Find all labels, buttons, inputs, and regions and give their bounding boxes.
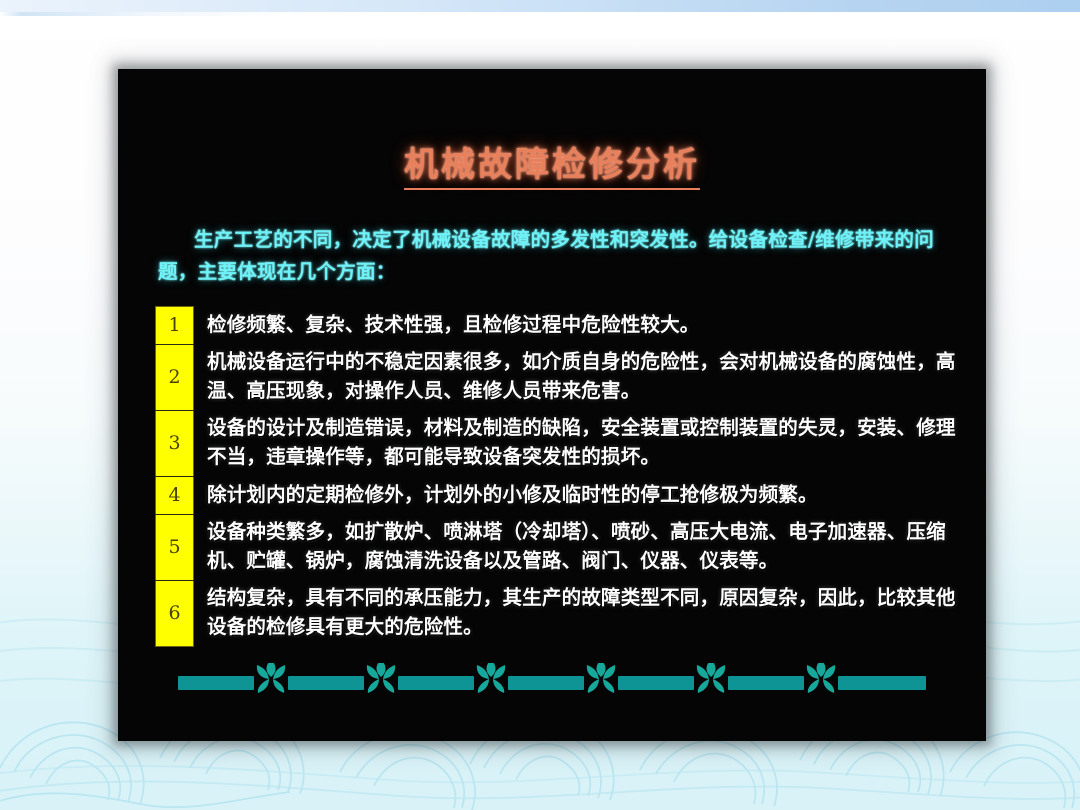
- item-number-badge: 4: [156, 476, 194, 514]
- slide-background: 机械故障检修分析 生产工艺的不同，决定了机械设备故障的多发性和突发性。给设备检查…: [0, 0, 1080, 810]
- item-number-badge: 1: [156, 306, 194, 344]
- item-text: 除计划内的定期检修外，计划外的小修及临时性的停工抢修极为频繁。: [194, 476, 960, 514]
- table-row: 3 设备的设计及制造错误，材料及制造的缺陷，安全装置或控制装置的失灵，安装、修理…: [156, 410, 960, 476]
- item-text: 结构复杂，具有不同的承压能力，其生产的故障类型不同，原因复杂，因此，比较其他设备…: [194, 580, 960, 646]
- item-text: 机械设备运行中的不稳定因素很多，如介质自身的危险性，会对机械设备的腐蚀性，高温、…: [194, 344, 960, 410]
- footer-ornament-divider: [178, 663, 926, 697]
- table-row: 5 设备种类繁多，如扩散炉、喷淋塔（冷却塔）、喷砂、高压大电流、电子加速器、压缩…: [156, 514, 960, 580]
- item-number-badge: 5: [156, 514, 194, 580]
- table-row: 6 结构复杂，具有不同的承压能力，其生产的故障类型不同，原因复杂，因此，比较其他…: [156, 580, 960, 646]
- top-accent-band: [0, 0, 1080, 12]
- table-row: 4 除计划内的定期检修外，计划外的小修及临时性的停工抢修极为频繁。: [156, 476, 960, 514]
- item-text: 检修频繁、复杂、技术性强，且检修过程中危险性较大。: [194, 306, 960, 344]
- item-number-badge: 3: [156, 410, 194, 476]
- title-container: 机械故障检修分析: [118, 147, 986, 190]
- item-number-badge: 6: [156, 580, 194, 646]
- table-row: 2 机械设备运行中的不稳定因素很多，如介质自身的危险性，会对机械设备的腐蚀性，高…: [156, 344, 960, 410]
- page-title: 机械故障检修分析: [404, 147, 700, 190]
- table-row: 1 检修频繁、复杂、技术性强，且检修过程中危险性较大。: [156, 306, 960, 344]
- item-text: 设备的设计及制造错误，材料及制造的缺陷，安全装置或控制装置的失灵，安装、修理不当…: [194, 410, 960, 476]
- item-text: 设备种类繁多，如扩散炉、喷淋塔（冷却塔）、喷砂、高压大电流、电子加速器、压缩机、…: [194, 514, 960, 580]
- slide-content-panel: 机械故障检修分析 生产工艺的不同，决定了机械设备故障的多发性和突发性。给设备检查…: [118, 69, 986, 741]
- intro-paragraph: 生产工艺的不同，决定了机械设备故障的多发性和突发性。给设备检查/维修带来的问题，…: [158, 224, 942, 287]
- numbered-items-table: 1 检修频繁、复杂、技术性强，且检修过程中危险性较大。 2 机械设备运行中的不稳…: [155, 306, 960, 647]
- top-hairline-accent: [0, 12, 1080, 16]
- item-number-badge: 2: [156, 344, 194, 410]
